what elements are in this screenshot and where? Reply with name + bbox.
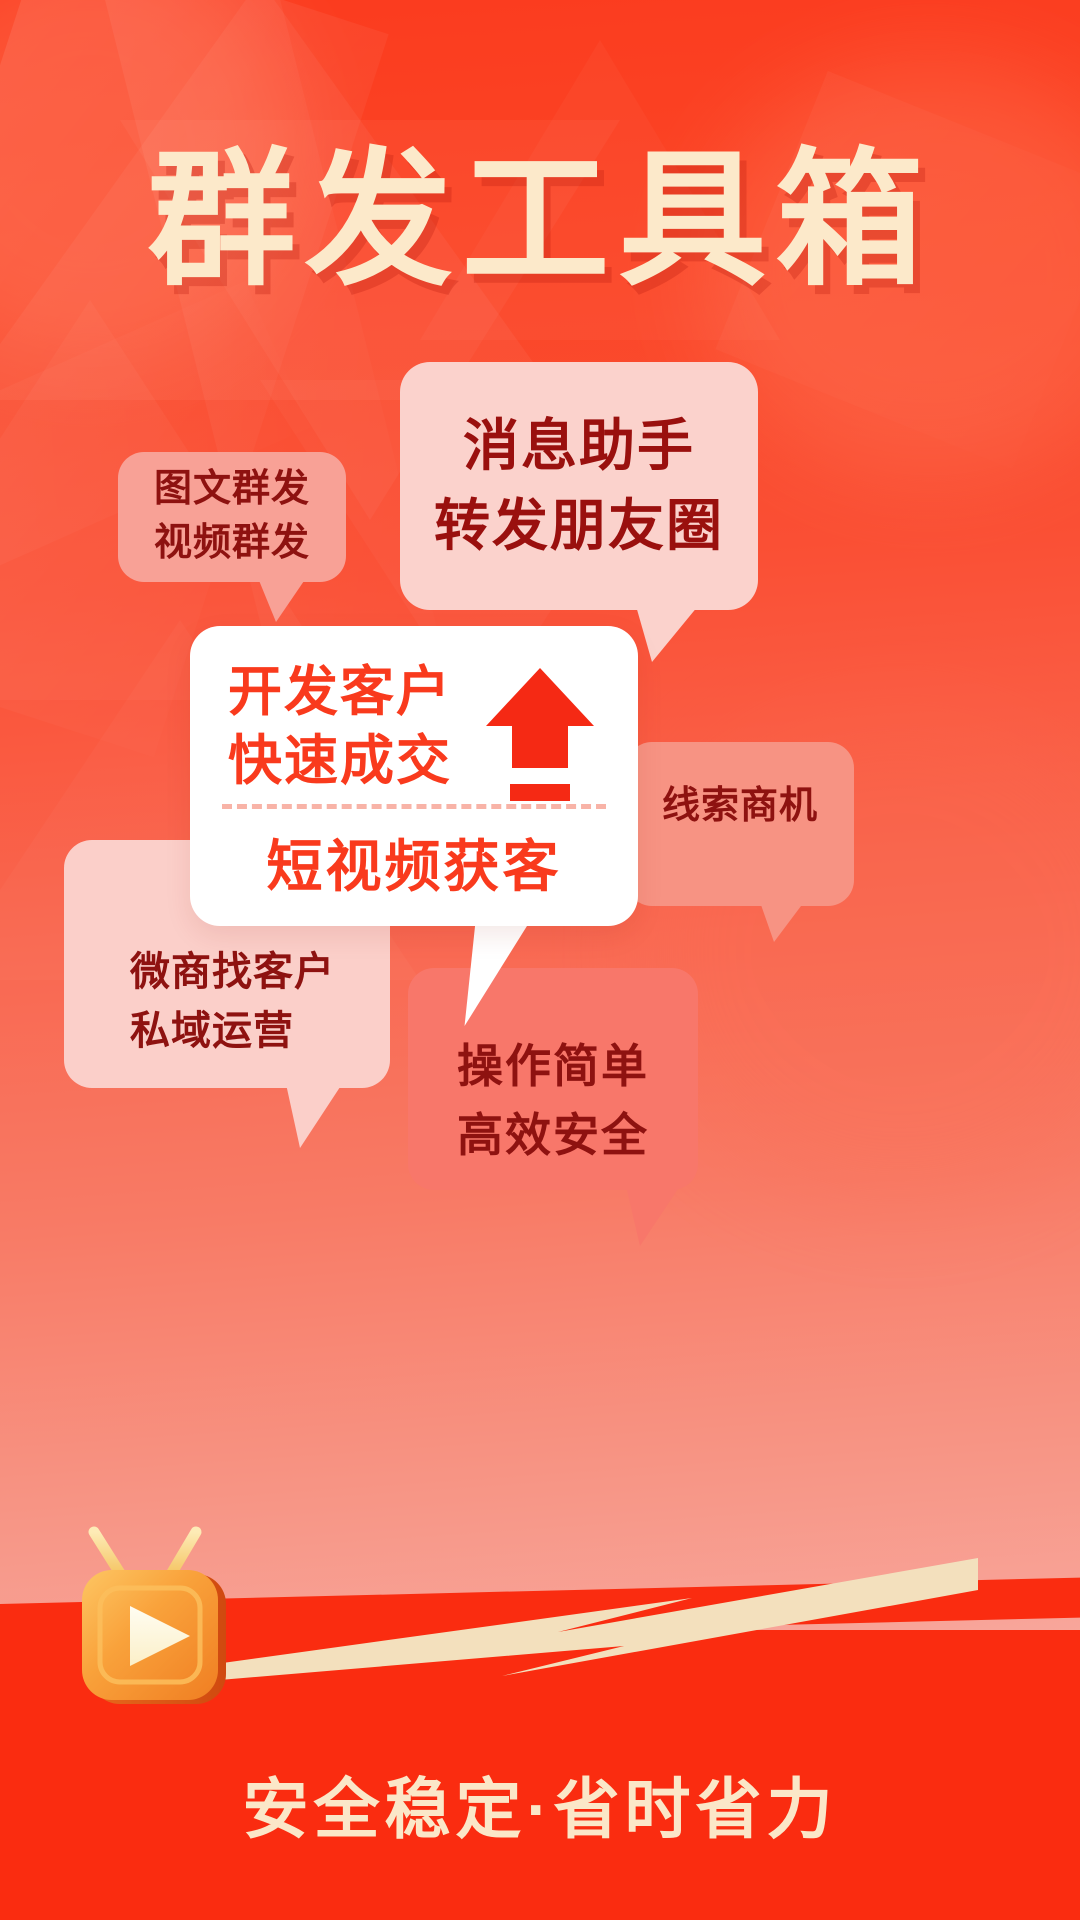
bubble-weishang-line-2: 私域运营 — [130, 1002, 294, 1060]
bubble-xiansuo[interactable]: 线索商机 — [626, 742, 854, 906]
footer-tagline: 安全稳定·省时省力 — [0, 1756, 1080, 1852]
bubble-tuwen-line-1: 图文群发 — [154, 463, 310, 517]
card-headline: 开发客户 快速成交 — [228, 658, 452, 796]
feature-card[interactable]: 开发客户 快速成交 短视频获客 — [190, 626, 638, 926]
bubble-caozuo-line-2: 高效安全 — [457, 1101, 649, 1170]
retro-tv-play-icon[interactable] — [68, 1524, 236, 1720]
bubble-xiaoxi[interactable]: 消息助手 转发朋友圈 — [400, 362, 758, 610]
bubble-weishang-line-1: 微商找客户 — [130, 943, 335, 1001]
bubble-tail-xiaoxi — [636, 606, 698, 662]
bubble-tail-weishang — [286, 1084, 342, 1148]
bubble-xiansuo-line-1: 线索商机 — [662, 774, 818, 829]
bubble-xiaoxi-line-1: 消息助手 — [463, 406, 695, 486]
poster-title-container: 群发工具箱 — [0, 144, 1080, 298]
card-headline-line-2: 快速成交 — [228, 727, 452, 796]
bubble-caozuo[interactable]: 操作简单 高效安全 — [408, 968, 698, 1190]
bubble-tail-caozuo — [626, 1186, 680, 1246]
lightning-bolt-icon — [172, 1554, 978, 1684]
bubble-tail-xiansuo — [760, 902, 804, 942]
poster-canvas: 群发工具箱 消息助手 转发朋友圈 图文群发 视频群发 线索商机 微商找客户 私域… — [0, 0, 1080, 1920]
card-tail — [465, 922, 530, 1026]
bubble-tail-tuwen — [258, 578, 306, 622]
poster-title: 群发工具箱 — [148, 144, 933, 298]
bubble-tuwen-line-2: 视频群发 — [154, 517, 310, 571]
bubble-caozuo-line-1: 操作简单 — [457, 1032, 649, 1101]
arrow-up-icon — [482, 664, 598, 814]
bubble-tuwen[interactable]: 图文群发 视频群发 — [118, 452, 346, 582]
card-subtitle: 短视频获客 — [190, 822, 638, 903]
card-headline-line-1: 开发客户 — [228, 658, 452, 727]
bubble-xiaoxi-line-2: 转发朋友圈 — [434, 486, 724, 566]
